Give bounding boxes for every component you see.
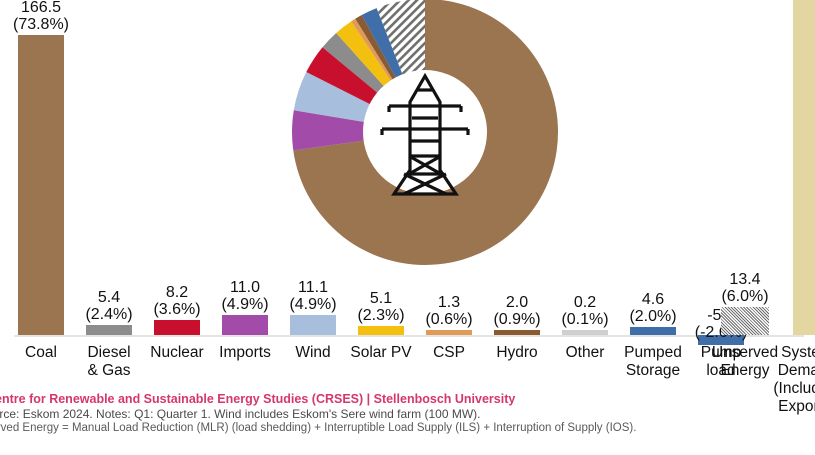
bar-rect [630, 327, 676, 335]
x-tick-unserved-energy: UnservedEnergy [708, 344, 782, 380]
bar-value-label: 0.2(0.1%) [561, 294, 608, 328]
bar-column-hydro: 2.0(0.9%) [486, 294, 548, 335]
x-tick-other: Other [548, 344, 622, 362]
bar-value: 2.0 [506, 294, 528, 311]
x-tick-line1: Coal [4, 344, 78, 362]
x-tick-line1: Pumped [616, 344, 690, 362]
bar-value-label: 5.1(2.3%) [357, 290, 404, 324]
bar-rect [562, 330, 608, 335]
x-tick-line2: & Gas [72, 362, 146, 380]
x-tick-coal: Coal [4, 344, 78, 362]
bar-column-nuclear: 8.2(3.6%) [146, 284, 208, 335]
bar-value: 0.2 [574, 294, 596, 311]
bar-percent: (2.0%) [629, 308, 676, 325]
bar-rect [86, 325, 132, 335]
bar-rect [358, 326, 404, 335]
bar-value-label: 1.3(0.6%) [425, 294, 472, 328]
bar-percent: (0.6%) [425, 311, 472, 328]
bar-percent: (0.1%) [561, 311, 608, 328]
bar-value-label: 166.5(73.8%) [13, 0, 69, 33]
bar-column-solar-pv: 5.1(2.3%) [350, 290, 412, 335]
x-tick-line1: Other [548, 344, 622, 362]
bar-percent: (4.9%) [289, 296, 336, 313]
x-tick-line1: Diesel [72, 344, 146, 362]
bar-column-other: 0.2(0.1%) [554, 294, 616, 335]
x-tick-line1: CSP [412, 344, 486, 362]
bar-value-label: 13.4(6.0%) [721, 271, 768, 305]
x-tick-line1: Unserved [708, 344, 782, 362]
footnote-unserved-energy-definition: Unserved Energy = Manual Load Reduction … [0, 422, 636, 434]
x-tick-line1: Imports [208, 344, 282, 362]
bar-rect [494, 330, 540, 335]
bar-value: 11.1 [298, 279, 328, 296]
bar-value-label: 4.6(2.0%) [629, 291, 676, 325]
x-tick-solar-pv: Solar PV [344, 344, 418, 362]
bar-value: 4.6 [642, 291, 664, 308]
bar-rect [154, 320, 200, 335]
x-tick-wind: Wind [276, 344, 350, 362]
bar-value-label: 5.4(2.4%) [85, 289, 132, 323]
x-tick-nuclear: Nuclear [140, 344, 214, 362]
bar-value: 1.3 [438, 294, 460, 311]
bar-column-unserved-energy: 13.4(6.0%) [714, 271, 776, 335]
bar-value-label: 11.0(4.9%) [221, 279, 268, 313]
bar-rect [222, 315, 268, 335]
bar-percent: (2.4%) [85, 306, 132, 323]
bar-column-csp: 1.3(0.6%) [418, 294, 480, 335]
x-tick-line2: Demand [772, 362, 815, 380]
x-tick-pumped-storage: PumpedStorage [616, 344, 690, 380]
x-tick-line1: Nuclear [140, 344, 214, 362]
x-tick-line1: Wind [276, 344, 350, 362]
x-tick-csp: CSP [412, 344, 486, 362]
bar-value-label: 8.2(3.6%) [153, 284, 200, 318]
bar-value: 13.4 [729, 271, 760, 288]
bar-chart-canvas: 166.5(73.8%)5.4(2.4%)8.2(3.6%)11.0(4.9%)… [0, 0, 815, 390]
bar-percent: (73.8%) [13, 16, 69, 33]
x-tick-line2: Storage [616, 362, 690, 380]
bar-rect [426, 330, 472, 335]
bar-percent: (0.9%) [493, 311, 540, 328]
footnote-crses-credit: Centre for Renewable and Sustainable Ene… [0, 392, 515, 406]
bar-rect [290, 315, 336, 335]
x-tick-hydro: Hydro [480, 344, 554, 362]
x-axis-baseline [14, 335, 804, 337]
energy-mix-donut-chart [290, 0, 560, 266]
bar-column-imports: 11.0(4.9%) [214, 279, 276, 335]
bar-column-coal: 166.5(73.8%) [10, 0, 72, 335]
x-axis-tick-labels: CoalDiesel& GasNuclearImportsWindSolar P… [0, 344, 815, 390]
x-tick-line1: System [772, 344, 815, 362]
bar-column-pumped-storage: 4.6(2.0%) [622, 291, 684, 335]
bar-value-label: 2.0(0.9%) [493, 294, 540, 328]
bar-value: 5.4 [98, 289, 120, 306]
footnote-source: Source: Eskom 2024. Notes: Q1: Quarter 1… [0, 407, 480, 421]
donut-svg [290, 0, 560, 266]
x-tick-line1: Solar PV [344, 344, 418, 362]
x-tick-line2: Energy [708, 362, 782, 380]
bar-percent: (4.9%) [221, 296, 268, 313]
bar-percent: (2.3%) [357, 307, 404, 324]
x-tick-imports: Imports [208, 344, 282, 362]
bar-percent: (3.6%) [153, 301, 200, 318]
x-tick-line1: Hydro [480, 344, 554, 362]
bar-value: 5.1 [370, 290, 392, 307]
bar-value: 166.5 [21, 0, 61, 16]
footer-notes: Centre for Renewable and Sustainable Ene… [0, 392, 815, 455]
bar-column-diesel-gas: 5.4(2.4%) [78, 289, 140, 335]
bar-system-demand [793, 0, 815, 335]
bar-percent: (6.0%) [721, 288, 768, 305]
bar-value: 11.0 [230, 279, 260, 296]
bar-value: 8.2 [166, 284, 188, 301]
bar-rect [721, 307, 769, 335]
bar-column-wind: 11.1(4.9%) [282, 279, 344, 335]
x-tick-diesel-gas: Diesel& Gas [72, 344, 146, 380]
bar-rect [18, 35, 64, 335]
bar-value-label: 11.1(4.9%) [289, 279, 336, 313]
